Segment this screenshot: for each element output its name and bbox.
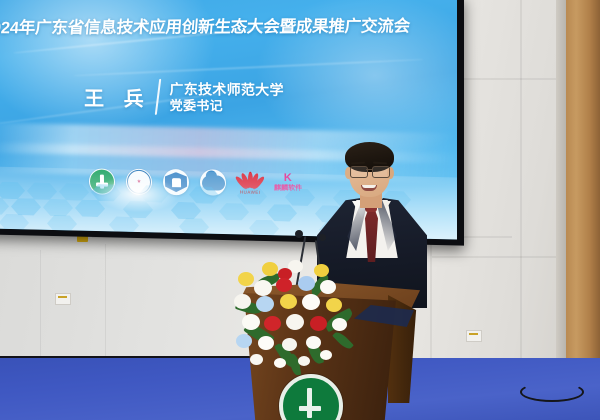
floor-cable [520,382,584,402]
slide-title: 2024年广东省信息技术应用创新生态大会暨成果推广交流会 [0,12,414,38]
speaker-name-block: 王 兵 广东技术师范大学 党委书记 [84,78,285,116]
wall-seam-vertical-d [105,244,106,362]
wall-seam-vertical-c [40,250,41,360]
flower-arrangement [232,262,364,382]
name-divider [154,79,160,115]
speaker-position: 党委书记 [170,98,285,114]
wall-seam-horizontal-b [432,256,562,258]
photo-scene: 2024年广东省信息技术应用创新生态大会暨成果推广交流会 王 兵 广东技术师范大… [0,0,600,420]
eyeglasses-lens-right [372,166,390,178]
wall-socket-right [466,330,482,342]
wall-socket-left [55,293,71,305]
eyeglasses-lens-left [350,166,368,178]
speaker-organization: 广东技术师范大学 [169,81,284,98]
screen-mount-tag [77,236,88,242]
speaker-org-block: 广东技术师范大学 党委书记 [169,81,284,114]
microphone-head-left [295,230,303,238]
wall-seam-vertical-b [520,0,522,404]
hexagon-highlight [92,173,182,215]
microphone-head-right [319,234,326,241]
wood-wall-trim [566,0,600,404]
speaker-name: 王 兵 [84,82,151,112]
eyeglasses-bridge [366,169,372,170]
wall-edge-trim [556,0,566,404]
